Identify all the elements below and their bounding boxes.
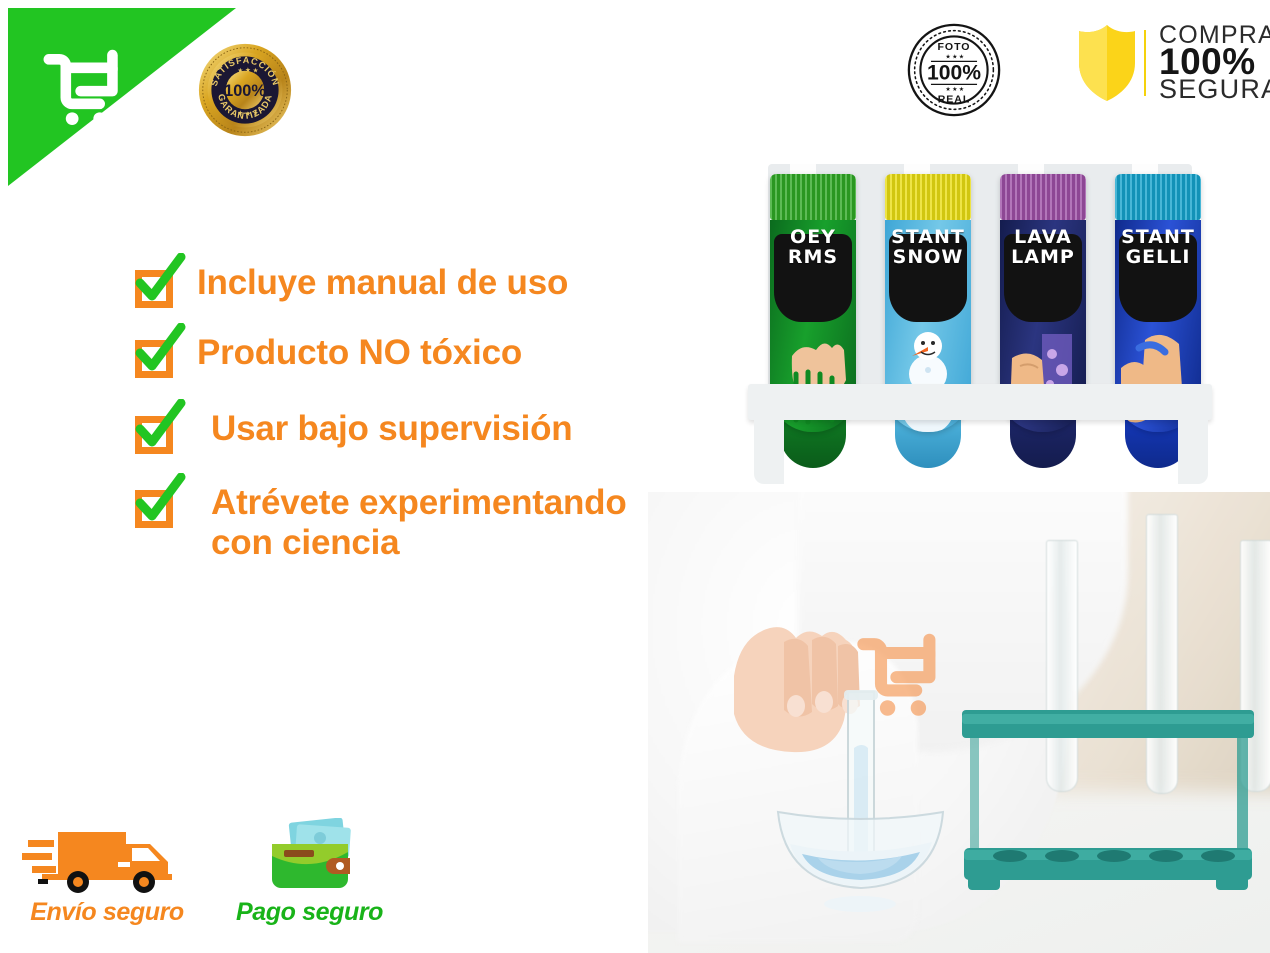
tube-cap — [770, 174, 856, 220]
satisfaction-guarantee-badge: SATISFACCIÓN GARANTIZADA 100% ★★★ ★★★ — [197, 42, 293, 138]
shipping-label: Envío seguro — [30, 898, 184, 927]
payment-badge: Pago seguro — [236, 818, 383, 927]
feature-item: Incluye manual de uso — [133, 260, 773, 310]
svg-text:★: ★ — [959, 86, 964, 93]
stamp-bottom-text: REAL — [938, 94, 971, 106]
stamp-top-text: FOTO — [938, 41, 971, 53]
rack-shelf — [748, 384, 1212, 420]
feature-item: Usar bajo supervisión — [133, 406, 773, 456]
svg-text:★: ★ — [945, 86, 950, 93]
teal-test-tube-rack — [958, 700, 1258, 900]
product-photo-tube-rack: OEY RMS STANT SNOW — [742, 150, 1220, 490]
checkbox-checked-icon — [133, 482, 181, 530]
star-icon: ★ — [237, 109, 243, 117]
lab-experiment-photo — [648, 492, 1270, 953]
feature-label: Usar bajo supervisión — [197, 406, 572, 449]
feature-label: Incluye manual de uso — [197, 260, 568, 303]
checkbox-checked-icon — [133, 408, 181, 456]
shopping-cart-g-logo-icon — [34, 36, 140, 142]
tube-label-text: OEY RMS — [770, 228, 856, 268]
shield-icon — [1076, 23, 1138, 103]
star-icon: ★ — [253, 67, 259, 75]
trust-badges: Envío seguro Pago seguro — [22, 818, 383, 927]
tube-cap — [885, 174, 971, 220]
tube-label-text: STANT GELLI — [1115, 228, 1201, 268]
product-marketing-banner: SATISFACCIÓN GARANTIZADA 100% ★★★ ★★★ FO… — [0, 0, 1270, 953]
star-icon: ★ — [245, 66, 251, 74]
tube-cap — [1000, 174, 1086, 220]
tube-label-text: LAVA LAMP — [1000, 228, 1086, 268]
compra-segura-badge: COMPRA 100% SEGURA — [1076, 18, 1262, 108]
svg-text:★: ★ — [952, 86, 957, 93]
svg-text:★: ★ — [952, 53, 957, 60]
wallet-money-icon — [250, 818, 370, 894]
stamp-center-text: 100% — [927, 62, 981, 85]
foto-real-stamp-badge: FOTO ★★★ 100% ★★★ REAL — [906, 22, 1002, 118]
star-icon: ★ — [237, 67, 243, 75]
svg-text:★: ★ — [959, 53, 964, 60]
shopping-cart-watermark-icon — [848, 620, 958, 730]
compra-line3: SEGURA — [1159, 77, 1270, 102]
payment-label: Pago seguro — [236, 898, 383, 927]
star-icon: ★ — [253, 109, 259, 117]
checkbox-checked-icon — [133, 262, 181, 310]
compra-divider — [1144, 30, 1146, 96]
feature-label: Producto NO tóxico — [197, 330, 522, 373]
tube-label-text: STANT SNOW — [885, 228, 971, 268]
feature-item: Producto NO tóxico — [133, 330, 773, 380]
shipping-badge: Envío seguro — [22, 820, 192, 927]
feature-label: Atrévete experimentando con ciencia — [197, 480, 627, 563]
star-icon: ★ — [245, 110, 251, 118]
checkbox-checked-icon — [133, 332, 181, 380]
delivery-truck-icon — [22, 820, 192, 894]
badge-center-text: 100% — [224, 82, 266, 100]
glass-bowl-with-powder — [768, 792, 953, 920]
rack-leg — [754, 418, 784, 484]
rack-leg — [1178, 418, 1208, 484]
tube-cap — [1115, 174, 1201, 220]
svg-text:★: ★ — [945, 53, 950, 60]
